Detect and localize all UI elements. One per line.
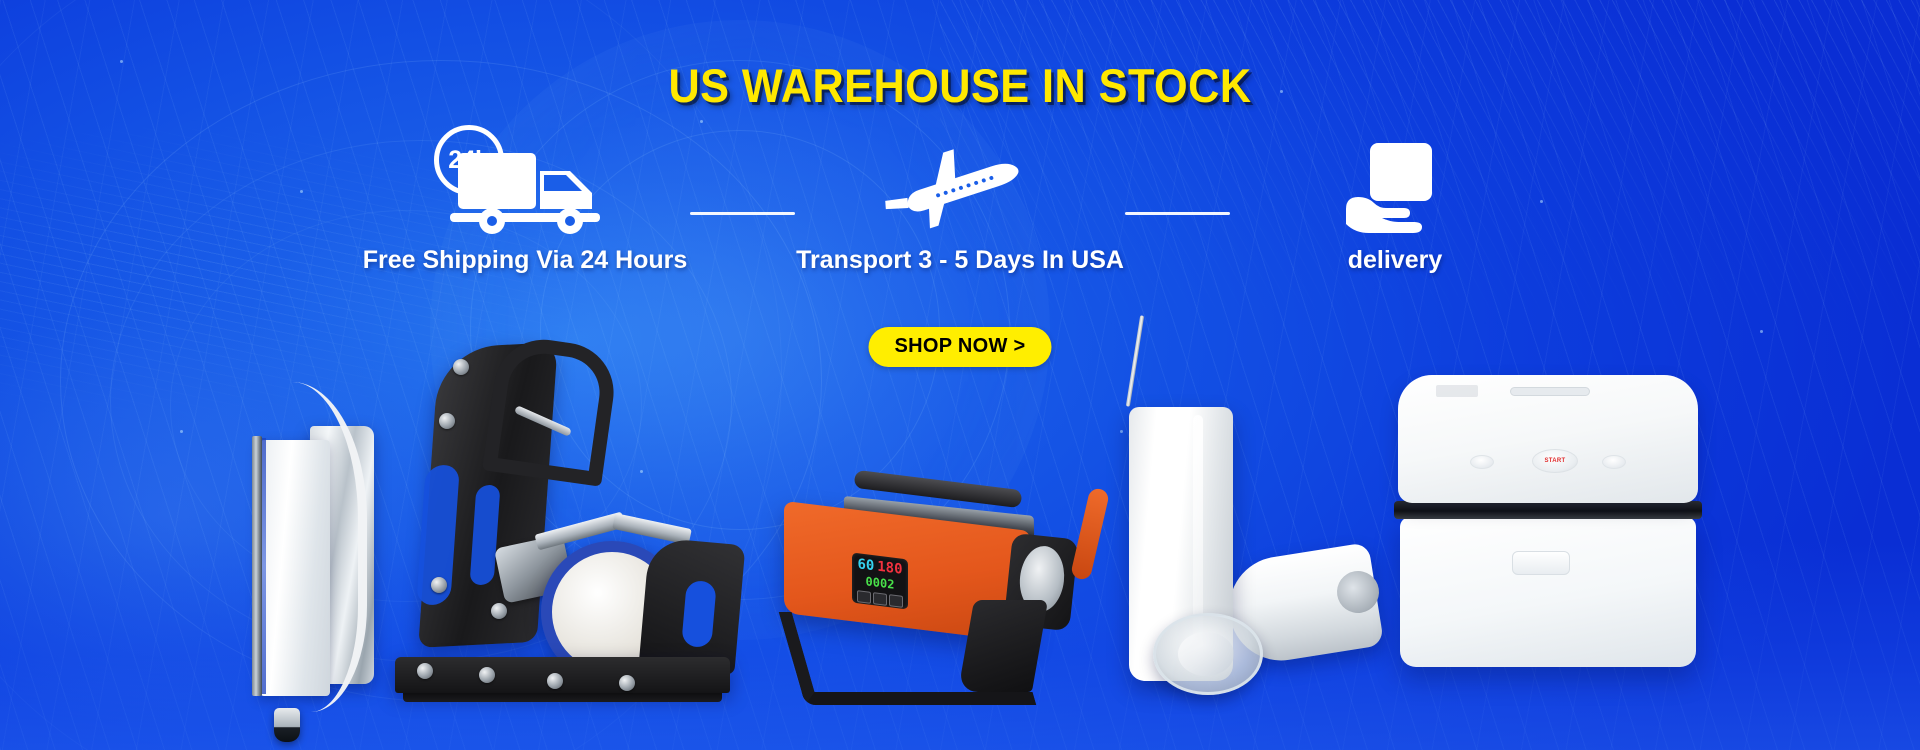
- cooker-button-left[interactable]: [1470, 455, 1494, 469]
- background-dot: [700, 120, 703, 123]
- feature-label-transport: Transport 3 - 5 Days In USA: [796, 246, 1124, 275]
- tumbler-upright: [1129, 407, 1233, 681]
- press-stand-right: [958, 600, 1048, 692]
- tumbler-clear-lid: [1153, 613, 1263, 695]
- product-heating-element-plate: [240, 420, 380, 720]
- tumbler-straw: [1126, 315, 1144, 406]
- airplane-icon: [880, 135, 1040, 235]
- mug-press-screw: [547, 673, 563, 689]
- display-timer: 0002: [856, 573, 904, 593]
- mug-press-clamp-bar: [612, 513, 692, 545]
- heater-back-plate: [310, 426, 374, 684]
- cooker-lid: [1398, 375, 1698, 503]
- cooker-warning-label: [1436, 385, 1478, 397]
- mug-press-screw: [453, 359, 469, 375]
- mug-press-screw: [491, 603, 507, 619]
- product-orange-tumbler-heat-press: 60 180 0002: [770, 480, 1100, 710]
- mug-press-screw: [479, 667, 495, 683]
- cooker-door-latch[interactable]: [1512, 551, 1570, 575]
- mug-press-base: [395, 657, 730, 693]
- mug-press-screw: [619, 675, 635, 691]
- press-top-rail: [844, 496, 1034, 538]
- press-drum-housing: [1003, 533, 1078, 631]
- press-drum-plate: [1017, 544, 1068, 614]
- mug-press-clamp-bar: [534, 512, 625, 551]
- feature-label-free-shipping: Free Shipping Via 24 Hours: [363, 246, 688, 275]
- display-readout-row: 60 180: [856, 557, 904, 577]
- display-preset: 180: [877, 560, 902, 577]
- press-lever: [1070, 487, 1110, 581]
- display-button-row: [856, 590, 904, 608]
- product-white-cooker-appliance: START: [1390, 375, 1710, 675]
- tumbler-lying-base: [1334, 568, 1382, 616]
- background-dot: [180, 430, 183, 433]
- heater-edge: [252, 436, 262, 696]
- promotional-banner: US WAREHOUSE IN STOCK 24h: [0, 0, 1920, 750]
- background-dot: [640, 470, 643, 473]
- mug-press-arm: [418, 342, 558, 648]
- connector-line-2: [1125, 212, 1230, 215]
- background-dot: [1120, 430, 1123, 433]
- cooker-start-label: START: [1544, 458, 1565, 464]
- feature-row: 24h Free Shipping Via 24 Hours: [0, 130, 1920, 275]
- cooker-black-band: [1394, 501, 1702, 519]
- feature-icon-wrapper: 24h: [440, 130, 610, 240]
- cooker-button-right[interactable]: [1602, 455, 1626, 469]
- mug-press-screw: [431, 577, 447, 593]
- mug-press-screw: [417, 663, 433, 679]
- hand-holding-box-icon: [1340, 135, 1450, 235]
- shop-now-button[interactable]: SHOP NOW >: [869, 327, 1052, 367]
- product-black-mug-heat-press: [395, 345, 740, 705]
- press-body: [784, 501, 1030, 643]
- press-handle: [854, 470, 1023, 508]
- heater-cable: [292, 382, 367, 712]
- tumbler-lying: [1222, 542, 1384, 668]
- feature-icon-wrapper: [1340, 130, 1450, 240]
- heater-blue-stripe: [262, 438, 266, 694]
- heater-plug-connector: [274, 708, 300, 742]
- mug-press-handle: [482, 333, 620, 486]
- cooker-vent: [1510, 387, 1590, 396]
- background-glow: [0, 300, 480, 730]
- feature-delivery: delivery: [1230, 130, 1560, 275]
- page-title: US WAREHOUSE IN STOCK: [77, 58, 1843, 113]
- product-white-skinny-tumblers: [1125, 355, 1385, 715]
- cooker-body: [1400, 517, 1696, 667]
- background-dot: [1760, 330, 1763, 333]
- background-floor-glow: [0, 540, 1920, 750]
- mug-press-arm-cutout: [416, 464, 460, 606]
- mug-press-right-clamp: [639, 537, 746, 675]
- connector-line-1: [690, 212, 795, 215]
- display-temperature: 60: [857, 557, 874, 573]
- mug-press-arm-cutout: [469, 484, 500, 585]
- truck-24h-icon: 24h: [440, 135, 610, 235]
- feature-icon-wrapper: [880, 130, 1040, 240]
- mug-press-rod: [514, 405, 572, 437]
- mug-press-right-cutout: [681, 580, 717, 648]
- mug-press-mug: [541, 541, 683, 683]
- press-control-display: 60 180 0002: [852, 553, 908, 610]
- display-button-up[interactable]: [889, 594, 903, 608]
- display-button-menu[interactable]: [857, 590, 871, 604]
- feature-transport: Transport 3 - 5 Days In USA: [795, 130, 1125, 275]
- badge-24h: 24h: [434, 125, 504, 195]
- feature-label-delivery: delivery: [1348, 246, 1443, 275]
- press-stand: [779, 612, 1037, 705]
- display-button-down[interactable]: [873, 592, 887, 606]
- feature-free-shipping: 24h Free Shipping Via 24 Hours: [360, 130, 690, 275]
- mug-press-hinge-cluster: [494, 534, 574, 603]
- cooker-start-button[interactable]: START: [1532, 449, 1578, 473]
- mug-press-screw: [439, 413, 455, 429]
- heater-front-plate: [260, 440, 330, 696]
